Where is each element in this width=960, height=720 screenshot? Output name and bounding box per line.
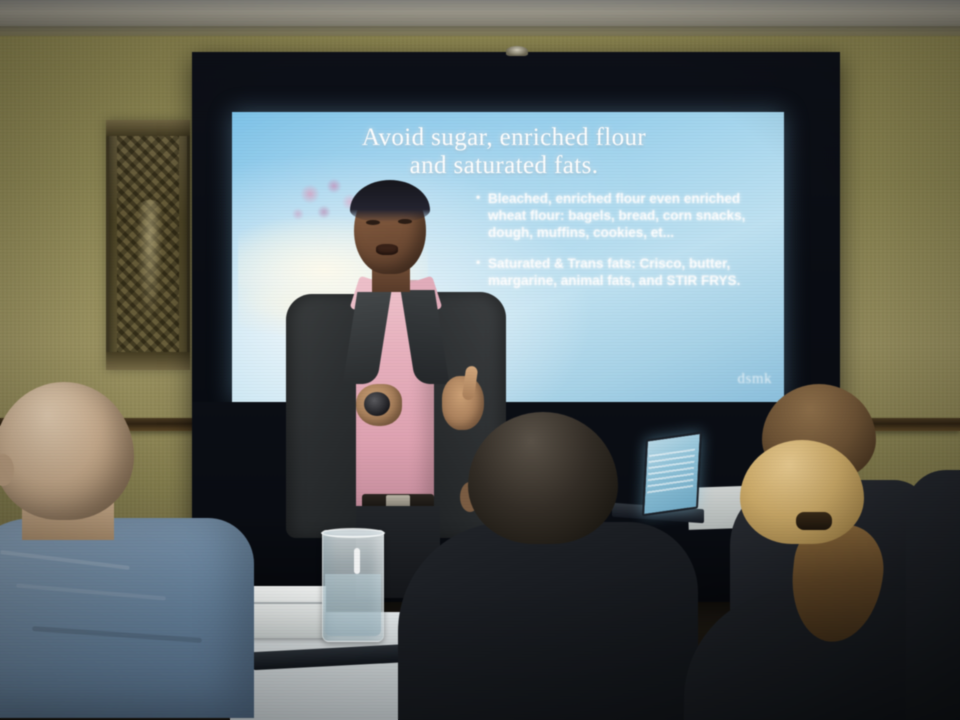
presenter-eye-left: [366, 220, 380, 225]
ornate-wall-sconce-icon: [106, 120, 190, 370]
presenter-hair: [350, 180, 430, 222]
slide-bullet-list: Bleached, enriched flour even enriched w…: [476, 190, 776, 303]
slide-bullet-item: Bleached, enriched flour even enriched w…: [476, 190, 776, 241]
water-glass-rim: [321, 528, 385, 538]
video-frame: Avoid sugar, enriched flour and saturate…: [0, 0, 960, 720]
audience-left: [0, 382, 302, 720]
presenter-mouth: [376, 244, 398, 255]
screen-mount-bracket: [506, 46, 528, 56]
slide-title: Avoid sugar, enriched flour and saturate…: [254, 124, 754, 180]
audience-center-body: [398, 522, 698, 720]
water-glass-contents: [325, 574, 381, 636]
audience-left-shirt: [0, 518, 254, 718]
audience-center-hair: [468, 412, 618, 544]
audience-center: [388, 412, 708, 720]
audience-left-head: [0, 382, 134, 520]
sconce-bottom-band: [106, 352, 190, 370]
slide-title-line1: Avoid sugar, enriched flour: [254, 124, 754, 152]
sconce-top-band: [106, 120, 190, 136]
water-glass-highlight: [354, 548, 360, 574]
presenter-eye-right: [398, 219, 412, 224]
audience-right-front-hair-tie: [796, 512, 832, 530]
audience-far-right-edge: [906, 470, 960, 720]
slide-bullet-item: Saturated & Trans fats: Crisco, butter, …: [476, 255, 776, 289]
presenter-clicker-icon: [364, 392, 390, 416]
